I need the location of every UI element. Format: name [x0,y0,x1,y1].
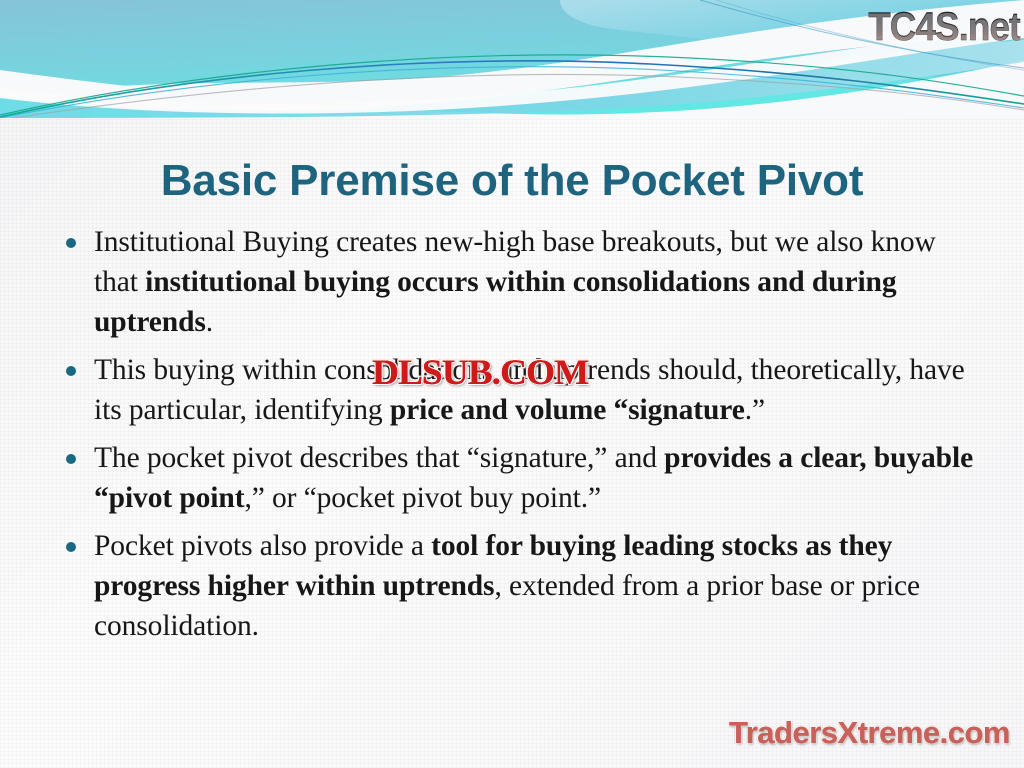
slide-canvas: TC4S.net Basic Premise of the Pocket Piv… [0,0,1024,768]
bullet-run-plain: ,” or “pocket pivot buy point.” [244,482,601,514]
bullet-marker-icon [66,366,76,376]
bullet-run-bold: price and volume “signature [390,394,745,426]
bullet-text: Pocket pivots also provide a tool for bu… [94,530,920,642]
bullet-run-plain: Pocket pivots also provide a [94,530,431,562]
bullet-pivot-point: The pocket pivot describes that “signatu… [52,438,982,518]
page-title: Basic Premise of the Pocket Pivot [62,155,962,207]
header-banner: TC4S.net [0,0,1024,118]
bullet-institutional-buying: Institutional Buying creates new-high ba… [52,222,982,342]
bullet-text: The pocket pivot describes that “signatu… [94,442,973,514]
watermark-tradersxtreme: TradersXtreme.com TradersXtreme.com [729,714,1010,752]
bullet-run-plain: The pocket pivot describes that “signatu… [94,442,664,474]
brand-logo-tc4s[interactable]: TC4S.net [868,2,1020,52]
bullet-marker-icon [66,238,76,248]
bullet-tool-for-buying: Pocket pivots also provide a tool for bu… [52,526,982,646]
watermark-dlsub: DLSUB.COM DLSUB.COM [372,352,588,392]
watermark-dlsub-fill: DLSUB.COM [372,352,588,392]
bullet-run-plain: .” [745,394,765,426]
bullet-text: Institutional Buying creates new-high ba… [94,226,936,338]
watermark-tradersxtreme-fill: TradersXtreme.com [729,714,1010,752]
bullet-marker-icon [66,454,76,464]
bullet-run-plain: . [206,306,213,338]
bullet-marker-icon [66,542,76,552]
bullet-list: Institutional Buying creates new-high ba… [52,222,982,654]
bullet-run-bold: institutional buying occurs within conso… [94,266,897,338]
